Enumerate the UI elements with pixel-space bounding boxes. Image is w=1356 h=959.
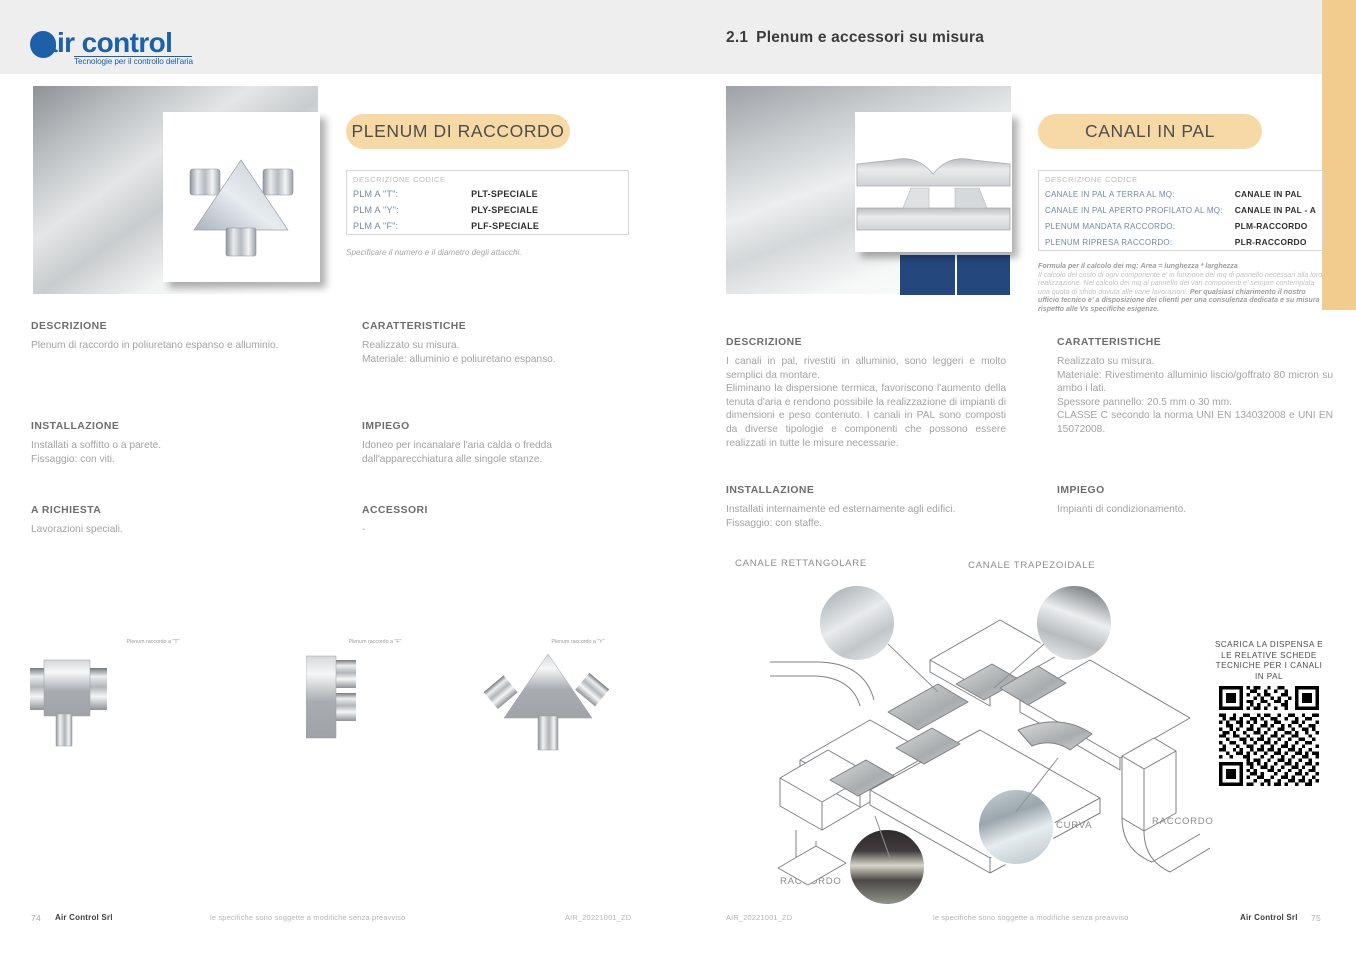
right-heading-caratteristiche: CARATTERISTICHE: [1057, 337, 1161, 348]
left-body-accessori: -: [362, 523, 652, 537]
left-footer-disclaimer: le specifiche sono soggette a modifiche …: [210, 913, 405, 925]
left-heading-accessori: ACCESSORI: [362, 505, 428, 516]
logo-tagline: Tecnologie per il controllo dell'aria: [74, 57, 193, 66]
right-footer-company: Air Control Srl: [1240, 913, 1298, 925]
left-body-impiego: Idoneo per incanalare l'aria calda o fre…: [362, 439, 624, 466]
left-body-a-richiesta: Lavorazioni speciali.: [31, 523, 321, 537]
canale-pal-photo: [855, 112, 1012, 252]
code-desc: PLM A "Y":: [347, 202, 466, 218]
code-value: PLM-RACCORDO: [1229, 218, 1323, 234]
table-row: PLM A "Y": PLY-SPECIALE: [347, 202, 629, 218]
left-product-caption-t: Plenum raccordo a "T": [78, 639, 228, 645]
right-hero-photo-band-split: [955, 255, 957, 295]
right-footer-page-number: 75: [1311, 913, 1321, 925]
left-body-caratteristiche: Realizzato su misura. Materiale: allumin…: [362, 339, 662, 366]
catalog-spread: air control Tecnologie per il controllo …: [0, 0, 1356, 959]
left-inset-photo: [163, 112, 320, 282]
right-body-caratteristiche: Realizzato su misura. Materiale: Rivesti…: [1057, 355, 1333, 437]
right-body-impiego: Impianti di condizionamento.: [1057, 503, 1333, 517]
table-row: CANALE IN PAL A TERRA AL MQ: CANALE IN P…: [1039, 186, 1323, 202]
right-heading-descrizione: DESCRIZIONE: [726, 337, 802, 348]
code-value: PLF-SPECIALE: [465, 218, 628, 235]
callout-leader-lines: [770, 560, 1220, 910]
table-header-row: DESCRIZIONE CODICE: [1039, 171, 1323, 187]
left-heading-a-richiesta: A RICHIESTA: [31, 505, 101, 516]
code-value: CANALE IN PAL - A: [1229, 202, 1323, 218]
left-product-caption-y: Plenum raccordo a "Y": [503, 639, 653, 645]
left-product-title-pill: PLENUM DI RACCORDO: [346, 114, 570, 149]
table-header-label: DESCRIZIONE CODICE: [347, 171, 629, 187]
table-row: PLM A "F": PLF-SPECIALE: [347, 218, 629, 235]
code-desc: PLENUM MANDATA RACCORDO:: [1039, 218, 1229, 234]
formula-expression: Area = lunghezza * larghezza: [1141, 262, 1238, 270]
left-codes-table: DESCRIZIONE CODICE PLM A "T": PLT-SPECIA…: [346, 170, 629, 235]
formula-lead: Formula per il calcolo dei mq:: [1038, 262, 1139, 270]
code-desc: CANALE IN PAL APERTO PROFILATO AL MQ:: [1039, 202, 1229, 218]
right-footer-disclaimer: le specifiche sono soggette a modifiche …: [933, 913, 1128, 925]
table-row: PLM A "T": PLT-SPECIALE: [347, 186, 629, 202]
plenum-y-photo: [163, 112, 320, 282]
left-table-note: Specificare il numero e il diametro degl…: [346, 248, 522, 257]
right-inset-photo: [855, 112, 1012, 252]
plenum-f-illustration: [306, 650, 456, 795]
brand-logo: air control Tecnologie per il controllo …: [30, 27, 210, 67]
qr-code[interactable]: [1219, 686, 1319, 786]
code-desc: PLM A "F":: [347, 218, 466, 235]
right-formula-note: Formula per il calcolo dei mq: Area = lu…: [1038, 262, 1328, 314]
right-product-title: CANALI IN PAL: [1085, 121, 1215, 142]
left-body-descrizione: Plenum di raccordo in poliuretano espans…: [31, 339, 321, 353]
left-footer-doc-code: AIR_20221001_ZD: [565, 913, 631, 925]
left-product-caption-f: Plenum raccordo a "F": [300, 639, 450, 645]
right-product-title-pill: CANALI IN PAL: [1038, 114, 1262, 149]
code-desc: PLENUM RIPRESA RACCORDO:: [1039, 234, 1229, 251]
right-body-descrizione: I canali in pal, rivestiti in alluminio,…: [726, 355, 1006, 450]
left-heading-caratteristiche: CARATTERISTICHE: [362, 321, 466, 332]
qr-code-image: [1219, 686, 1319, 786]
table-row: CANALE IN PAL APERTO PROFILATO AL MQ: CA…: [1039, 202, 1323, 218]
table-row: PLENUM MANDATA RACCORDO: PLM-RACCORDO: [1039, 218, 1323, 234]
right-heading-impiego: IMPIEGO: [1057, 485, 1105, 496]
left-heading-descrizione: DESCRIZIONE: [31, 321, 107, 332]
plenum-y-illustration: [474, 650, 654, 800]
left-footer-company: Air Control Srl: [55, 913, 113, 925]
code-value: PLR-RACCORDO: [1229, 234, 1323, 251]
table-header-label: DESCRIZIONE CODICE: [1039, 171, 1323, 187]
code-value: CANALE IN PAL: [1229, 186, 1323, 202]
section-title: Plenum e accessori su misura: [756, 29, 984, 46]
table-row: PLENUM RIPRESA RACCORDO: PLR-RACCORDO: [1039, 234, 1323, 251]
right-heading-installazione: INSTALLAZIONE: [726, 485, 814, 496]
table-header-row: DESCRIZIONE CODICE: [347, 171, 629, 187]
left-product-title: PLENUM DI RACCORDO: [351, 121, 564, 142]
left-body-installazione: Installati a soffitto o a parete. Fissag…: [31, 439, 321, 466]
code-desc: PLM A "T":: [347, 186, 466, 202]
plenum-t-illustration: [30, 650, 260, 795]
right-codes-table: DESCRIZIONE CODICE CANALE IN PAL A TERRA…: [1038, 170, 1323, 251]
section-number: 2.1: [726, 29, 748, 46]
left-footer-page-number: 74: [31, 913, 41, 925]
code-desc: CANALE IN PAL A TERRA AL MQ:: [1039, 186, 1229, 202]
page-title: 2.1Plenum e accessori su misura: [726, 29, 984, 47]
right-body-installazione: Installati internamente ed esternamente …: [726, 503, 1016, 530]
left-heading-impiego: IMPIEGO: [362, 421, 410, 432]
qr-caption: SCARICA LA DISPENSA E LE RELATIVE SCHEDE…: [1213, 640, 1325, 682]
code-value: PLT-SPECIALE: [465, 186, 628, 202]
right-footer-doc-code: AIR_20221001_ZD: [726, 913, 792, 925]
left-heading-installazione: INSTALLAZIONE: [31, 421, 119, 432]
code-value: PLY-SPECIALE: [465, 202, 628, 218]
logo-wordmark: air control: [42, 27, 172, 59]
